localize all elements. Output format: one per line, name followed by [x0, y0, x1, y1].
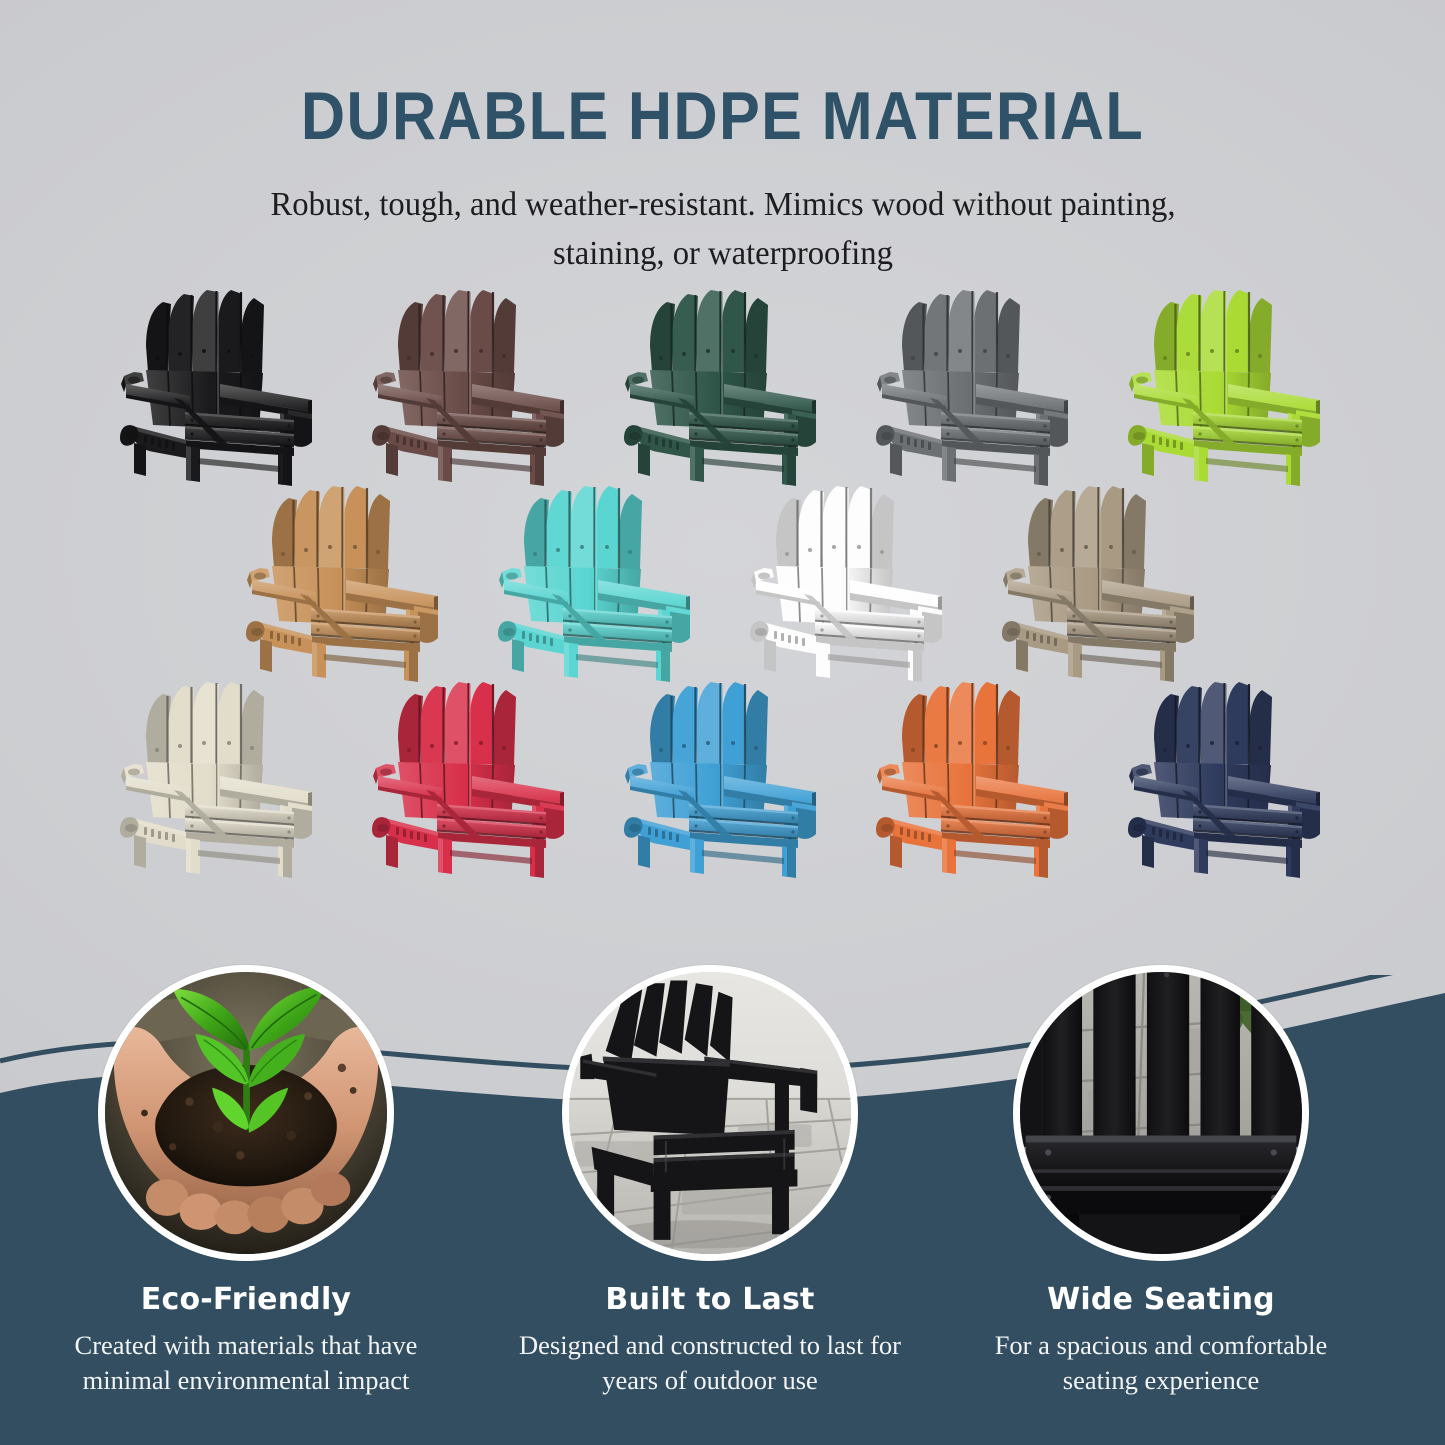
infographic-canvas: DURABLE HDPE MATERIAL Robust, tough, and…	[0, 0, 1445, 1445]
chair-svg	[490, 476, 704, 682]
header: DURABLE HDPE MATERIAL Robust, tough, and…	[0, 0, 1445, 279]
chair-swatch-ivory[interactable]	[97, 664, 341, 878]
page-subtitle: Robust, tough, and weather-resistant. Mi…	[243, 180, 1203, 279]
feature-image-wide-seating	[1013, 965, 1309, 1261]
feature-row: Eco-Friendly Created with materials that…	[0, 885, 1445, 1445]
feature-title: Eco-Friendly	[36, 1283, 456, 1316]
feature-body: For a spacious and comfortable seating e…	[951, 1328, 1371, 1397]
chair-svg	[868, 672, 1082, 878]
chair-svg	[238, 476, 452, 682]
chair-swatch-dark-brown[interactable]	[349, 272, 593, 486]
chair-grid-row-3	[0, 664, 1445, 878]
chair-swatch-black[interactable]	[97, 272, 341, 486]
chair-svg	[742, 476, 956, 682]
feature-body: Created with materials that have minimal…	[36, 1328, 456, 1397]
page-title: DURABLE HDPE MATERIAL	[72, 82, 1373, 150]
chair-swatch-dark-green[interactable]	[601, 272, 845, 486]
chair-swatch-teak[interactable]	[223, 468, 467, 682]
chair-swatch-taupe[interactable]	[979, 468, 1223, 682]
chair-swatch-lime-green[interactable]	[1105, 272, 1349, 486]
chair-swatch-light-blue[interactable]	[601, 664, 845, 878]
chair-swatch-gray[interactable]	[853, 272, 1097, 486]
hands-holding-seedling-icon	[105, 972, 387, 1254]
feature-built-to-last: Built to Last Designed and constructed t…	[500, 965, 920, 1397]
black-chair-wide-seat-closeup-icon	[1020, 972, 1302, 1254]
feature-wide-seating: Wide Seating For a spacious and comforta…	[951, 965, 1371, 1397]
chair-svg	[112, 672, 326, 878]
chair-swatch-navy-blue[interactable]	[1105, 664, 1349, 878]
feature-body: Designed and constructed to last for yea…	[500, 1328, 920, 1397]
chair-svg	[616, 672, 830, 878]
chair-svg	[616, 280, 830, 486]
chair-svg	[112, 280, 326, 486]
feature-image-built-to-last	[562, 965, 858, 1261]
chair-swatch-white[interactable]	[727, 468, 971, 682]
feature-title: Built to Last	[500, 1283, 920, 1316]
chair-grid-row-2	[0, 468, 1445, 682]
feature-image-eco-friendly	[98, 965, 394, 1261]
chair-svg	[1120, 280, 1334, 486]
chair-swatch-turquoise[interactable]	[475, 468, 719, 682]
chair-svg	[994, 476, 1208, 682]
chair-svg	[868, 280, 1082, 486]
chair-grid-row-1	[0, 272, 1445, 486]
chair-svg	[1120, 672, 1334, 878]
feature-eco-friendly: Eco-Friendly Created with materials that…	[36, 965, 456, 1397]
feature-title: Wide Seating	[951, 1283, 1371, 1316]
chair-svg	[364, 280, 578, 486]
black-adirondack-chair-photo-icon	[569, 972, 851, 1254]
chair-swatch-red[interactable]	[349, 664, 593, 878]
chair-swatch-orange[interactable]	[853, 664, 1097, 878]
chair-svg	[364, 672, 578, 878]
chair-color-grid	[0, 272, 1445, 878]
